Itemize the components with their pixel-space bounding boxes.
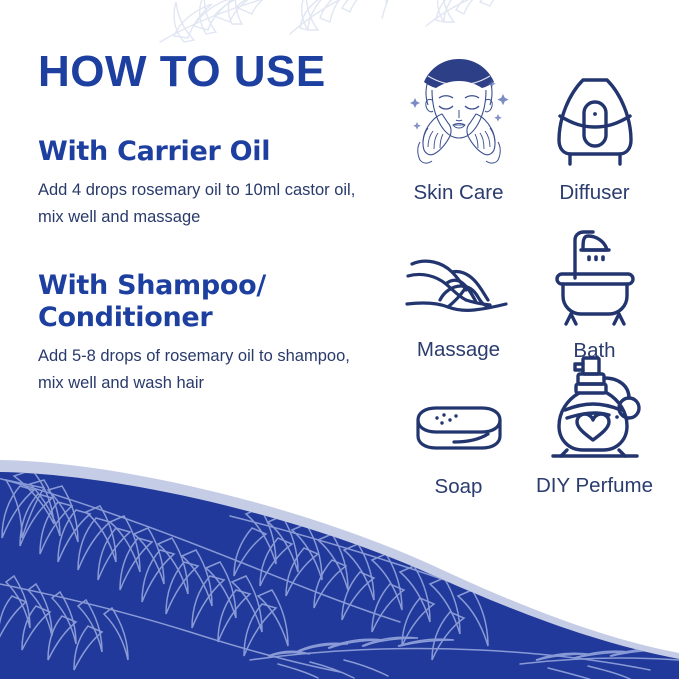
- diffuser-icon: [553, 52, 637, 170]
- usage-item-label: Massage: [417, 340, 500, 361]
- section-body-carrier-oil: Add 4 drops rosemary oil to 10ml castor …: [38, 177, 378, 230]
- usage-item-skin-care: Skin Care: [392, 52, 525, 224]
- usage-icon-grid: Skin Care Diffuser: [392, 52, 664, 519]
- instruction-text-column: HOW TO USE With Carrier Oil Add 4 drops …: [38, 50, 378, 396]
- usage-item-label: DIY Perfume: [536, 476, 653, 497]
- section-heading-carrier-oil: With Carrier Oil: [38, 136, 378, 168]
- section-body-shampoo-conditioner: Add 5-8 drops of rosemary oil to shampoo…: [38, 343, 378, 396]
- usage-item-diffuser: Diffuser: [525, 52, 664, 224]
- top-rosemary-decoration: [150, 0, 570, 52]
- promo-graphic-canvas: HOW TO USE With Carrier Oil Add 4 drops …: [0, 0, 679, 679]
- soap-bar-icon: [414, 404, 504, 462]
- usage-item-massage: Massage: [392, 224, 525, 394]
- perfume-atomizer-icon: [545, 356, 645, 464]
- massage-hands-icon: [404, 252, 514, 324]
- usage-item-soap: Soap: [392, 394, 525, 519]
- usage-item-diy-perfume: DIY Perfume: [525, 394, 664, 519]
- usage-item-label: Skin Care: [413, 183, 503, 204]
- usage-item-label: Soap: [435, 477, 483, 498]
- bathtub-shower-icon: [549, 230, 641, 326]
- usage-item-label: Diffuser: [559, 183, 629, 204]
- face-skincare-icon: [406, 52, 512, 170]
- section-heading-shampoo-conditioner: With Shampoo/ Conditioner: [38, 270, 378, 334]
- page-title: HOW TO USE: [38, 50, 378, 94]
